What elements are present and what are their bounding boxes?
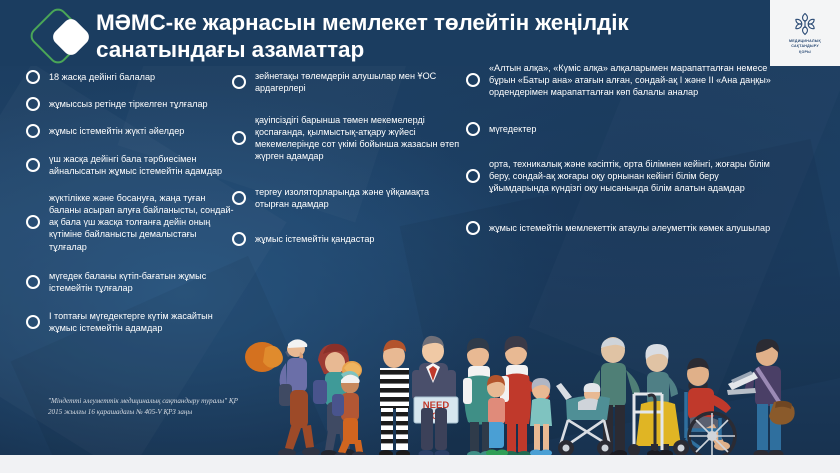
benefit-column-left: 18 жасқа дейінгі балалар жұмыссыз ретінд… (26, 70, 234, 345)
fund-logo: МЕДИЦИНАЛЫҚ САҚТАНДЫРУ ҚОРЫ (770, 0, 840, 66)
list-item-label: зейнетақы төлемдерін алушылар мен ҰОС ар… (255, 70, 460, 94)
bullet-icon (466, 169, 480, 183)
bullet-icon (466, 221, 480, 235)
child-icon (530, 378, 552, 457)
bullet-icon (466, 73, 480, 87)
list-item: жұмыс істемейтін мемлекеттік атаулы әлеу… (466, 221, 774, 235)
man-with-sack-icon (245, 339, 320, 457)
people-illustration: NEED JOB (0, 308, 840, 473)
bullet-icon (466, 122, 480, 136)
clover-flower-icon (792, 11, 818, 37)
list-item-label: жүктілікке және босануға, жаңа туған бал… (49, 192, 234, 252)
page-title-line1: МӘМС-ке жарнасын мемлекет төлейтін жеңіл… (96, 10, 629, 35)
list-item: тергеу изоляторларында және үйқамақта от… (232, 186, 460, 210)
man-holding-need-job-sign-icon: NEED JOB (412, 336, 458, 458)
list-item: 18 жасқа дейінгі балалар (26, 70, 234, 84)
logo-text: МЕДИЦИНАЛЫҚ САҚТАНДЫРУ ҚОРЫ (789, 39, 821, 55)
student-with-laptop-icon (727, 339, 795, 458)
list-item-label: жұмыс істемейтін жүкті әйелдер (49, 125, 184, 137)
list-item: жұмыс істемейтін жүкті әйелдер (26, 124, 234, 138)
list-item-label: жұмыссыз ретінде тіркелген тұлғалар (49, 98, 208, 110)
list-item: жұмыс істемейтін қандастар (232, 232, 460, 246)
list-item: орта, техникалық және кәсіптік, орта біл… (466, 158, 774, 194)
bullet-icon (26, 275, 40, 289)
elderly-woman-with-walker-icon (628, 344, 681, 458)
list-item-label: мүгедектер (489, 123, 536, 135)
benefit-column-middle: зейнетақы төлемдерін алушылар мен ҰОС ар… (232, 70, 460, 257)
bullet-icon (26, 124, 40, 138)
list-item: «Алтын алқа», «Күміс алқа» алқаларымен м… (466, 62, 774, 98)
list-item-label: жұмыс істемейтін мемлекеттік атаулы әлеу… (489, 222, 770, 234)
list-item-label: жұмыс істемейтін қандастар (255, 233, 374, 245)
logo-text-line3: ҚОРЫ (789, 50, 821, 55)
list-item: жұмыссыз ретінде тіркелген тұлғалар (26, 97, 234, 111)
benefit-column-right: «Алтын алқа», «Күміс алқа» алқаларымен м… (466, 62, 774, 246)
elderly-man-with-stroller-icon (556, 337, 640, 458)
list-item-label: үш жасқа дейінгі бала тәрбиесімен айналы… (49, 153, 234, 177)
bottom-strip (0, 455, 840, 473)
list-item-label: мүгедек баланы күтіп-бағатын жұмыс істем… (49, 270, 234, 294)
page-title: МӘМС-ке жарнасын мемлекет төлейтін жеңіл… (96, 10, 736, 63)
bullet-icon (26, 215, 40, 229)
bullet-icon (232, 232, 246, 246)
list-item-label: қауіпсіздігі барынша төмен мекемелерді қ… (255, 114, 460, 162)
list-item-label: тергеу изоляторларында және үйқамақта от… (255, 186, 460, 210)
child-icon (486, 375, 508, 457)
prisoner-striped-uniform-icon (379, 340, 410, 458)
logo-text-line2: САҚТАНДЫРУ (789, 44, 821, 49)
list-item: мүгедек баланы күтіп-бағатын жұмыс істем… (26, 270, 234, 294)
list-item-label: 18 жасқа дейінгі балалар (49, 71, 155, 83)
list-item-label: орта, техникалық және кәсіптік, орта біл… (489, 158, 774, 194)
list-item: қауіпсіздігі барынша төмен мекемелерді қ… (232, 114, 460, 162)
man-in-wheelchair-icon (673, 358, 735, 459)
diamond-badge (34, 12, 98, 60)
list-item: жүктілікке және босануға, жаңа туған бал… (26, 192, 234, 252)
bullet-icon (26, 158, 40, 172)
list-item-label: «Алтын алқа», «Күміс алқа» алқаларымен м… (489, 62, 774, 98)
bullet-icon (26, 70, 40, 84)
list-item: мүгедектер (466, 122, 774, 136)
bullet-icon (232, 131, 246, 145)
bullet-icon (26, 97, 40, 111)
list-item: зейнетақы төлемдерін алушылар мен ҰОС ар… (232, 70, 460, 94)
list-item: үш жасқа дейінгі бала тәрбиесімен айналы… (26, 153, 234, 177)
page-title-line2: санатындағы азаматтар (96, 37, 736, 64)
illustration-figures: NEED JOB (0, 308, 840, 473)
bullet-icon (232, 75, 246, 89)
bullet-icon (232, 191, 246, 205)
infographic-poster: МӘМС-ке жарнасын мемлекет төлейтін жеңіл… (0, 0, 840, 473)
